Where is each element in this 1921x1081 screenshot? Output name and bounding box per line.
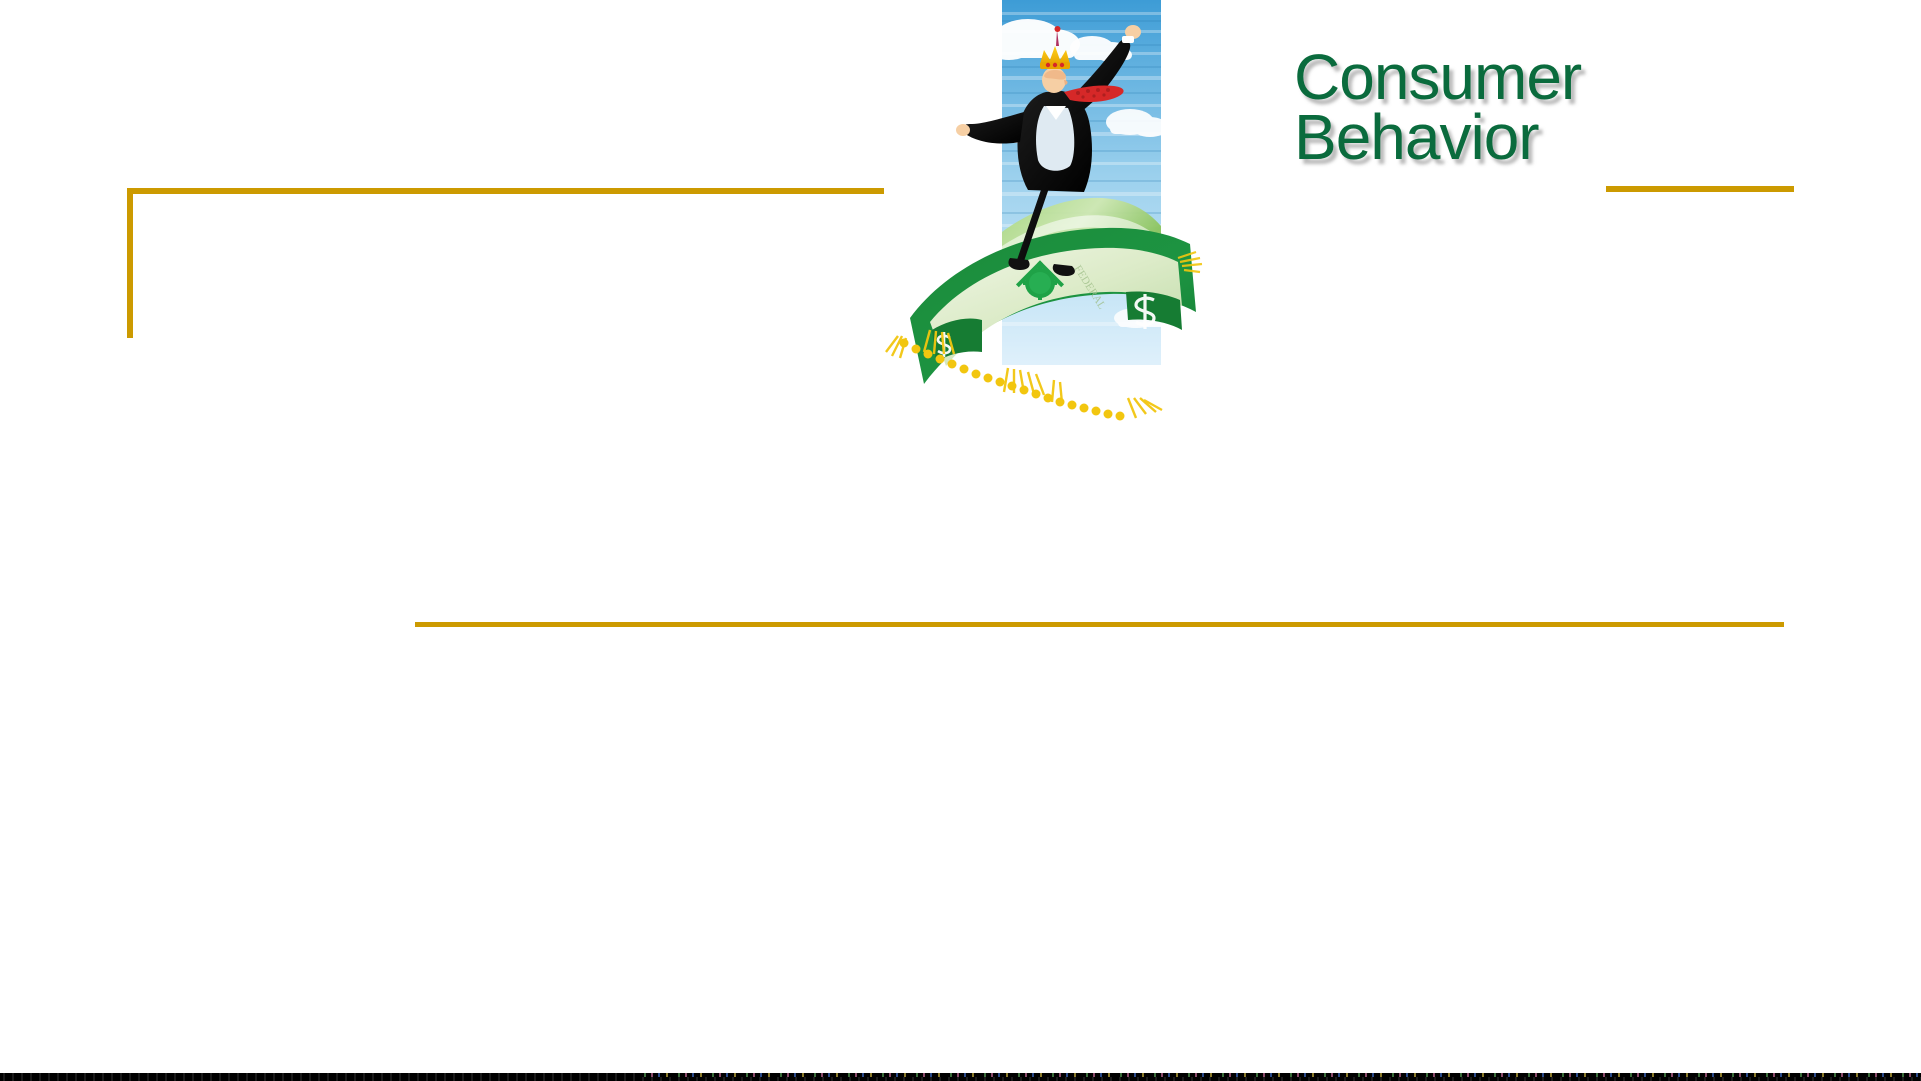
decorative-rule-top-vertical bbox=[127, 188, 133, 338]
bottom-edge-artifact bbox=[0, 1073, 1921, 1081]
slide-canvas: FEDERAL bbox=[0, 0, 1921, 1081]
title-line-1: Consumer bbox=[1294, 48, 1581, 108]
artifact-noise-color bbox=[640, 1073, 1921, 1077]
decorative-rule-top-horizontal bbox=[127, 188, 884, 194]
title-line-2: Behavior bbox=[1294, 108, 1581, 168]
shirt-front bbox=[1036, 106, 1074, 171]
hip-hand bbox=[956, 124, 970, 136]
decorative-rule-title-right bbox=[1606, 186, 1794, 192]
page-title: Consumer Behavior bbox=[1294, 48, 1581, 167]
decorative-rule-lower bbox=[415, 622, 1784, 627]
illustration-man-on-money-carpet: FEDERAL bbox=[878, 0, 1290, 425]
